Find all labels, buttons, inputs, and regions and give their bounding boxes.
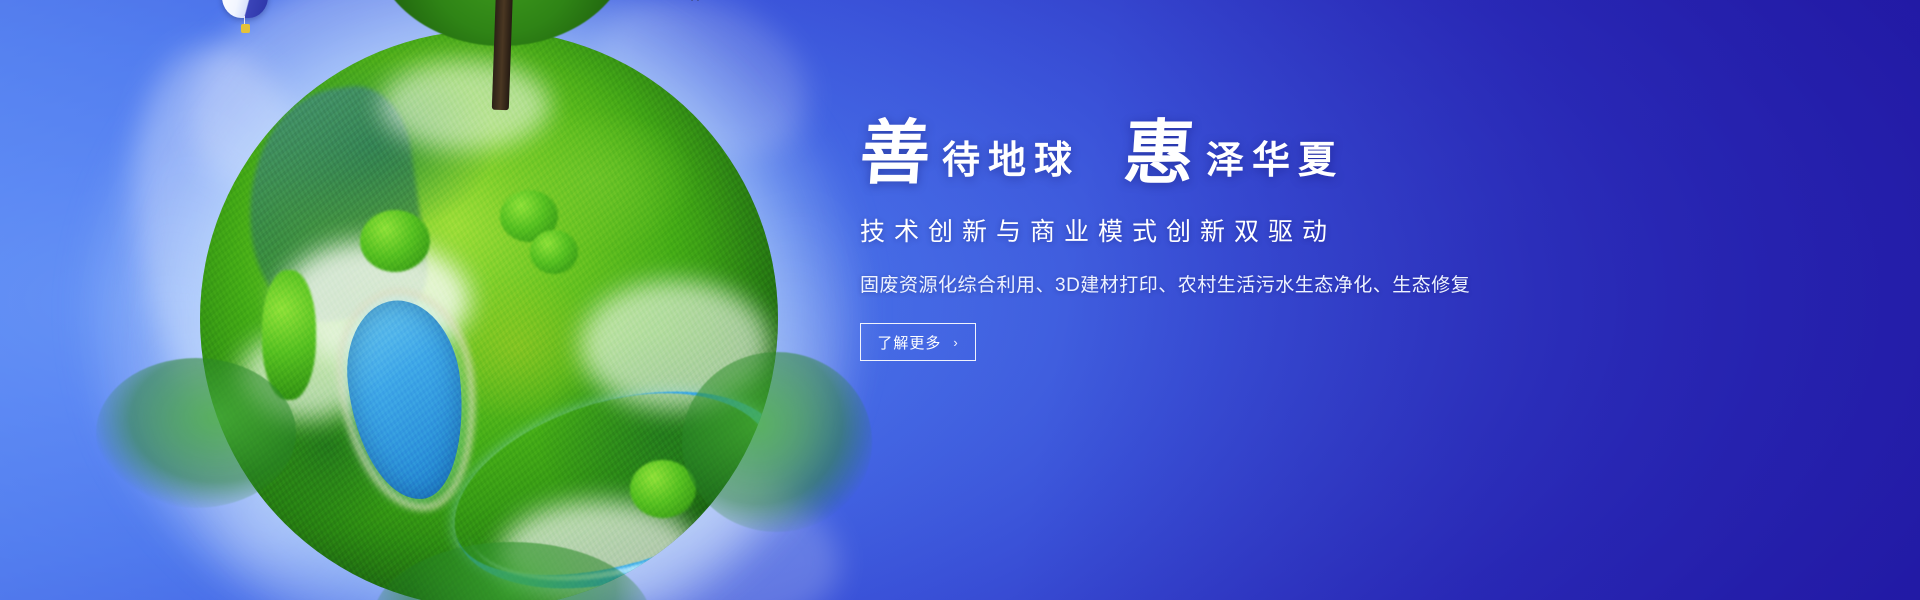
headline-char-1: 善 (858, 120, 935, 190)
hot-air-balloon-icon (222, 0, 268, 36)
globe-illustration (122, 0, 822, 600)
hero-banner: 善 待地球 惠 泽华夏 技术创新与商业模式创新双驱动 固废资源化综合利用、3D建… (0, 0, 1920, 600)
balloon-basket (241, 24, 250, 33)
headline: 善 待地球 惠 泽华夏 (860, 120, 1560, 190)
learn-more-button[interactable]: 了解更多 › (860, 323, 976, 361)
subtitle: 技术创新与商业模式创新双驱动 (860, 212, 1560, 248)
headline-rest-2: 泽华夏 (1206, 142, 1344, 180)
headline-rest-1: 待地球 (942, 142, 1080, 180)
globe-surface-noise (200, 30, 778, 600)
chevron-right-icon: › (953, 336, 958, 349)
rim-foliage-left (96, 358, 296, 508)
description: 固废资源化综合利用、3D建材打印、农村生活污水生态净化、生态修复 (860, 270, 1560, 297)
birds-flock-icon (562, 0, 712, 8)
rim-foliage-right (682, 352, 872, 532)
learn-more-label: 了解更多 (877, 332, 941, 353)
banner-content: 善 待地球 惠 泽华夏 技术创新与商业模式创新双驱动 固废资源化综合利用、3D建… (860, 120, 1560, 361)
balloon-envelope (222, 0, 268, 18)
green-planet-globe (200, 30, 778, 600)
headline-char-2: 惠 (1122, 120, 1199, 190)
balloon-cord (244, 16, 245, 24)
